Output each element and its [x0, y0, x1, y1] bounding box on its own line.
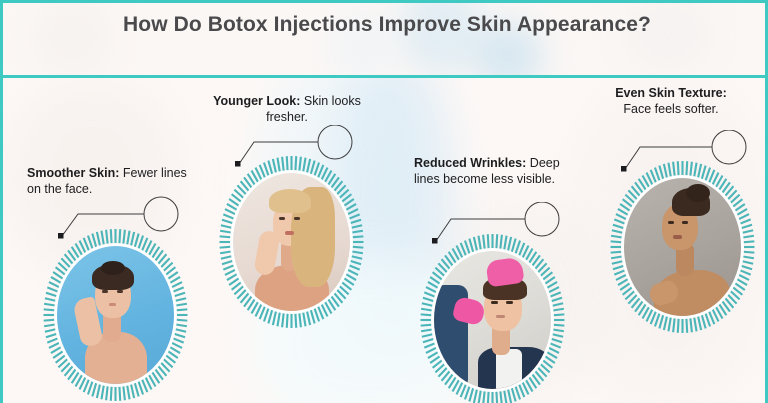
photo-younger-look: [233, 173, 350, 311]
figure-eye-left: [102, 290, 108, 293]
figure-hair-bun: [686, 184, 710, 202]
figure-hair-front: [269, 189, 311, 213]
figure-mouth: [673, 235, 682, 239]
figure-eye-left: [279, 217, 285, 220]
caption-term: Smoother Skin:: [27, 166, 119, 180]
figure-mouth: [109, 303, 116, 306]
photo-node-younger-look: [210, 146, 373, 338]
figure-mouth: [496, 315, 505, 318]
photo-smoother-skin: [57, 246, 174, 384]
photo-node-smoother-skin: [34, 219, 197, 403]
photo-node-even-skin-texture: [601, 151, 764, 343]
figure-eye-left: [668, 221, 674, 224]
figure-eye-right: [506, 301, 513, 304]
caption-smoother-skin: Smoother Skin: Fewer lines on the face.: [27, 166, 202, 197]
caption-term: Even Skin Texture:: [615, 86, 727, 100]
figure-eye-right: [294, 217, 300, 220]
caption-term: Younger Look:: [213, 94, 300, 108]
page-title: How Do Botox Injections Improve Skin App…: [3, 12, 768, 38]
figure-glove-upper: [485, 257, 524, 288]
caption-description: Face feels softer.: [623, 102, 718, 116]
figure-eye-right: [117, 290, 123, 293]
photo-reduced-wrinkles: [434, 251, 551, 389]
figure-patient-shirt: [496, 349, 522, 389]
figure-eye-left: [491, 301, 498, 304]
figure-mouth: [285, 231, 294, 235]
caption-reduced-wrinkles: Reduced Wrinkles: Deep lines become less…: [414, 156, 569, 187]
photo-node-reduced-wrinkles: [411, 224, 574, 403]
caption-younger-look: Younger Look: Skin looks fresher.: [207, 94, 367, 125]
photo-even-skin-texture: [624, 178, 741, 316]
infographic-root: How Do Botox Injections Improve Skin App…: [0, 0, 768, 403]
content-area: Smoother Skin: Fewer lines on the face.: [0, 78, 768, 403]
header-banner: How Do Botox Injections Improve Skin App…: [0, 0, 768, 78]
caption-even-skin-texture: Even Skin Texture: Face feels softer.: [607, 86, 735, 117]
figure-hair-bun: [101, 261, 125, 275]
figure-eye-right: [682, 221, 688, 224]
caption-term: Reduced Wrinkles:: [414, 156, 526, 170]
